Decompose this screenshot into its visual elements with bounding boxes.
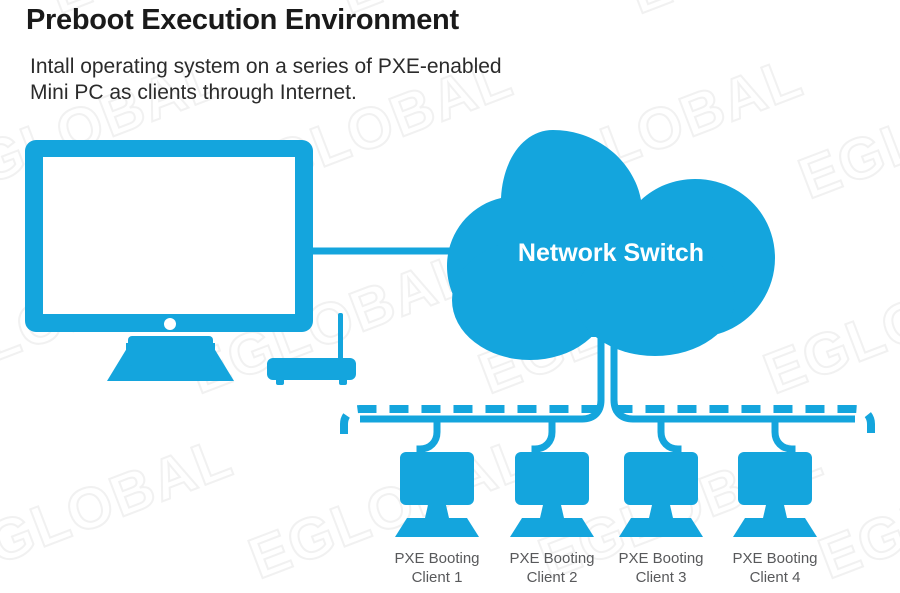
client-label-line2: Client 4	[750, 569, 801, 586]
client-base	[510, 518, 594, 537]
client-neck	[649, 505, 673, 518]
client-neck	[425, 505, 449, 518]
client-screen	[515, 452, 589, 505]
client-label-line1: PXE Booting	[732, 550, 817, 567]
pxe-client-2[interactable]: PXE BootingClient 2	[509, 452, 594, 586]
client-base	[733, 518, 817, 537]
client-label-line1: PXE Booting	[394, 550, 479, 567]
client-label-line1: PXE Booting	[618, 550, 703, 567]
pxe-client-1[interactable]: PXE BootingClient 1	[394, 452, 479, 586]
client-screen	[624, 452, 698, 505]
client-screen	[400, 452, 474, 505]
client-label-line2: Client 3	[636, 569, 687, 586]
pxe-client-3[interactable]: PXE BootingClient 3	[618, 452, 703, 586]
bus-drop-lines	[420, 419, 792, 470]
client-label-line1: PXE Booting	[509, 550, 594, 567]
pxe-client-4[interactable]: PXE BootingClient 4	[732, 452, 817, 586]
page-subtitle: Intall operating system on a series of P…	[30, 54, 502, 106]
client-label-line2: Client 2	[527, 569, 578, 586]
server-monitor	[25, 140, 313, 381]
diagram-page: EGLOBALEGLOBALEGLOBALEGLOBALEGLOBALEGLOB…	[0, 0, 900, 593]
page-title: Preboot Execution Environment	[26, 4, 459, 37]
pxe-clients-group: PXE BootingClient 1PXE BootingClient 2PX…	[394, 452, 817, 586]
client-label-line2: Client 1	[412, 569, 463, 586]
network-switch-cloud: Network Switch	[447, 130, 775, 360]
client-neck	[763, 505, 787, 518]
client-base	[619, 518, 703, 537]
cloud-label: Network Switch	[518, 239, 704, 267]
client-base	[395, 518, 479, 537]
client-neck	[540, 505, 564, 518]
client-screen	[738, 452, 812, 505]
